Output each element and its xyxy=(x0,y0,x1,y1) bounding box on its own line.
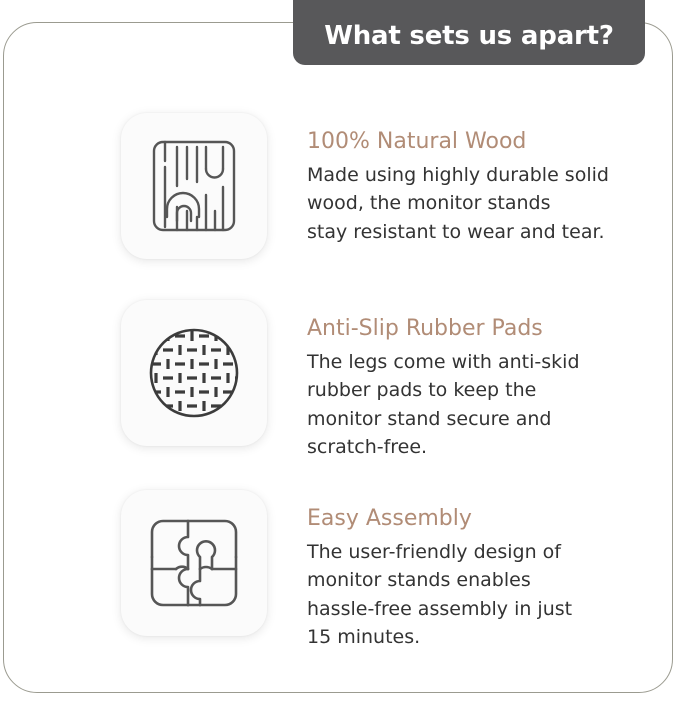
icon-card xyxy=(121,490,267,636)
header-banner: What sets us apart? xyxy=(293,0,645,65)
feature-text-block: Anti-Slip Rubber Pads The legs come with… xyxy=(307,300,637,461)
puzzle-pieces-icon xyxy=(148,517,240,609)
feature-heading: 100% Natural Wood xyxy=(307,129,637,154)
page-title: What sets us apart? xyxy=(324,21,614,51)
feature-text-block: 100% Natural Wood Made using highly dura… xyxy=(307,113,637,246)
feature-description: The legs come with anti-skid rubber pads… xyxy=(307,348,637,460)
icon-card xyxy=(121,300,267,446)
feature-description: Made using highly durable solid wood, th… xyxy=(307,161,637,245)
wood-grain-icon xyxy=(151,139,237,233)
feature-description: The user-friendly design of monitor stan… xyxy=(307,538,637,650)
feature-item-easy-assembly: Easy Assembly The user-friendly design o… xyxy=(121,490,637,651)
feature-item-anti-slip-rubber-pads: Anti-Slip Rubber Pads The legs come with… xyxy=(121,300,637,461)
feature-heading: Anti-Slip Rubber Pads xyxy=(307,316,637,341)
rubber-pad-weave-icon xyxy=(147,326,241,420)
feature-item-natural-wood: 100% Natural Wood Made using highly dura… xyxy=(121,113,637,259)
icon-card xyxy=(121,113,267,259)
feature-heading: Easy Assembly xyxy=(307,506,637,531)
feature-text-block: Easy Assembly The user-friendly design o… xyxy=(307,490,637,651)
